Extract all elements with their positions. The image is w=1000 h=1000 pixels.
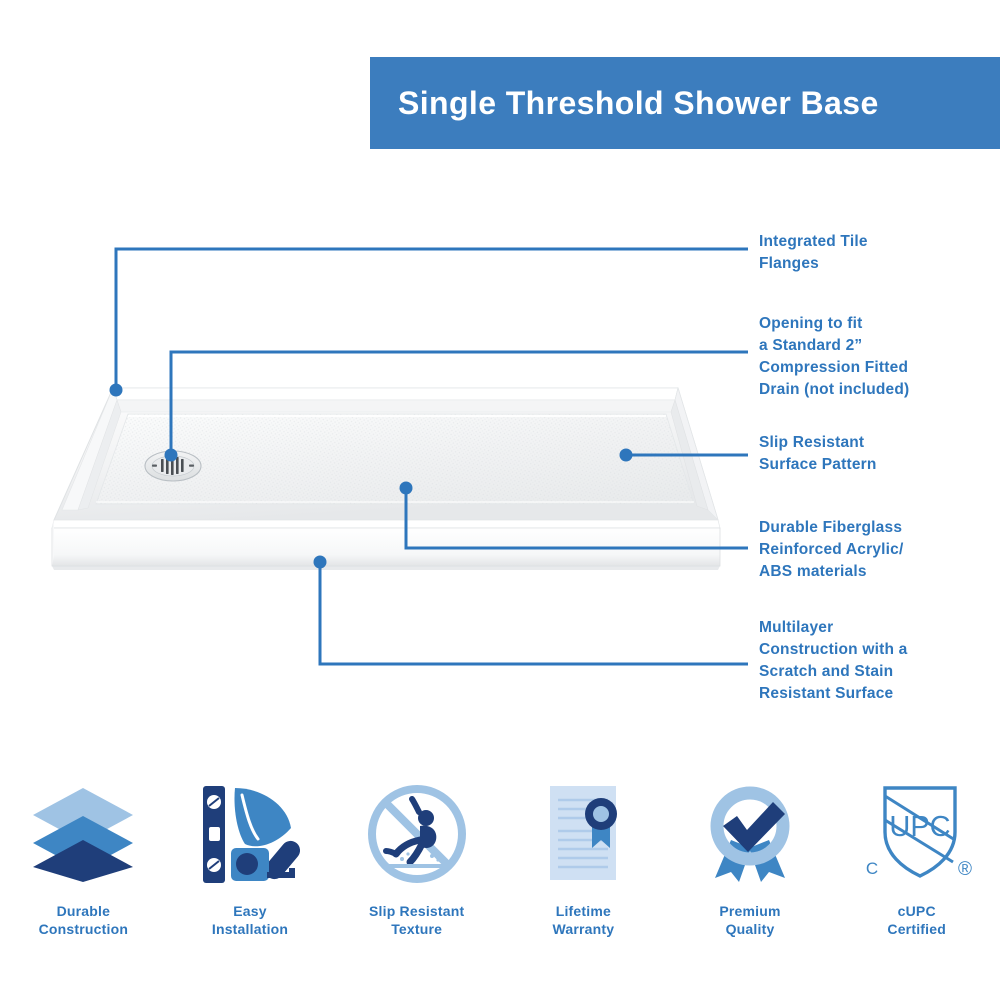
callout-line: Construction with a	[759, 639, 907, 661]
registered-mark-text: ®	[958, 859, 972, 880]
feature-label-line: Installation	[212, 920, 288, 938]
callout-slip-resistant-surface: Slip Resistant Surface Pattern	[759, 432, 877, 476]
page-title: Single Threshold Shower Base	[398, 85, 879, 122]
feature-label: Lifetime Warranty	[552, 902, 614, 938]
feature-cupc-certified: UPC C ® cUPC Certified	[833, 775, 1000, 965]
no-slip-prohibition-icon	[358, 775, 476, 893]
feature-label-line: Texture	[369, 920, 464, 938]
callout-drain-opening: Opening to fit a Standard 2” Compression…	[759, 313, 909, 401]
infographic-stage: Single Threshold Shower Base	[0, 0, 1000, 1000]
feature-easy-installation: Easy Installation	[167, 775, 334, 965]
feature-label: Durable Construction	[39, 902, 129, 938]
feature-label-line: Easy	[212, 902, 288, 920]
feature-strip: Durable Construction	[0, 775, 1000, 965]
callout-line: Drain (not included)	[759, 379, 909, 401]
feature-label-line: Lifetime	[552, 902, 614, 920]
feature-label-line: Warranty	[552, 920, 614, 938]
feature-label-line: Premium	[719, 902, 780, 920]
callout-integrated-tile-flanges: Integrated Tile Flanges	[759, 231, 868, 275]
callout-line: Resistant Surface	[759, 683, 907, 705]
callout-line: Surface Pattern	[759, 454, 877, 476]
callout-durable-materials: Durable Fiberglass Reinforced Acrylic/ A…	[759, 517, 904, 583]
callout-line: ABS materials	[759, 561, 904, 583]
callout-line: Integrated Tile	[759, 231, 868, 253]
feature-slip-resistant-texture: Slip Resistant Texture	[333, 775, 500, 965]
feature-label: cUPC Certified	[887, 902, 946, 938]
shower-base-illustration	[18, 370, 738, 595]
title-banner: Single Threshold Shower Base	[370, 57, 1000, 149]
callout-line: Slip Resistant	[759, 432, 877, 454]
feature-label: Premium Quality	[719, 902, 780, 938]
feature-label-line: Slip Resistant	[369, 902, 464, 920]
callout-line: Flanges	[759, 253, 868, 275]
callout-line: Compression Fitted	[759, 357, 909, 379]
stacked-layers-icon	[24, 775, 142, 893]
feature-label-line: Certified	[887, 920, 946, 938]
callout-line: a Standard 2”	[759, 335, 909, 357]
drain-grate-graphic	[145, 451, 201, 481]
warranty-certificate-icon	[524, 775, 642, 893]
feature-label-line: Construction	[39, 920, 129, 938]
callout-line: Reinforced Acrylic/	[759, 539, 904, 561]
feature-premium-quality: Premium Quality	[667, 775, 834, 965]
callout-line: Scratch and Stain	[759, 661, 907, 683]
feature-lifetime-warranty: Lifetime Warranty	[500, 775, 667, 965]
callout-line: Multilayer	[759, 617, 907, 639]
feature-label: Slip Resistant Texture	[369, 902, 464, 938]
upc-prefix-text: C	[866, 859, 878, 878]
callout-multilayer-construction: Multilayer Construction with a Scratch a…	[759, 617, 907, 705]
upc-shield-icon: UPC C ®	[858, 775, 976, 893]
feature-label: Easy Installation	[212, 902, 288, 938]
feature-label-line: cUPC	[887, 902, 946, 920]
award-checkmark-ribbon-icon	[691, 775, 809, 893]
upc-shield-text: UPC	[889, 811, 950, 843]
feature-label-line: Quality	[719, 920, 780, 938]
callout-line: Opening to fit	[759, 313, 909, 335]
level-trowel-tools-icon	[191, 775, 309, 893]
feature-label-line: Durable	[39, 902, 129, 920]
feature-durable-construction: Durable Construction	[0, 775, 167, 965]
callout-line: Durable Fiberglass	[759, 517, 904, 539]
